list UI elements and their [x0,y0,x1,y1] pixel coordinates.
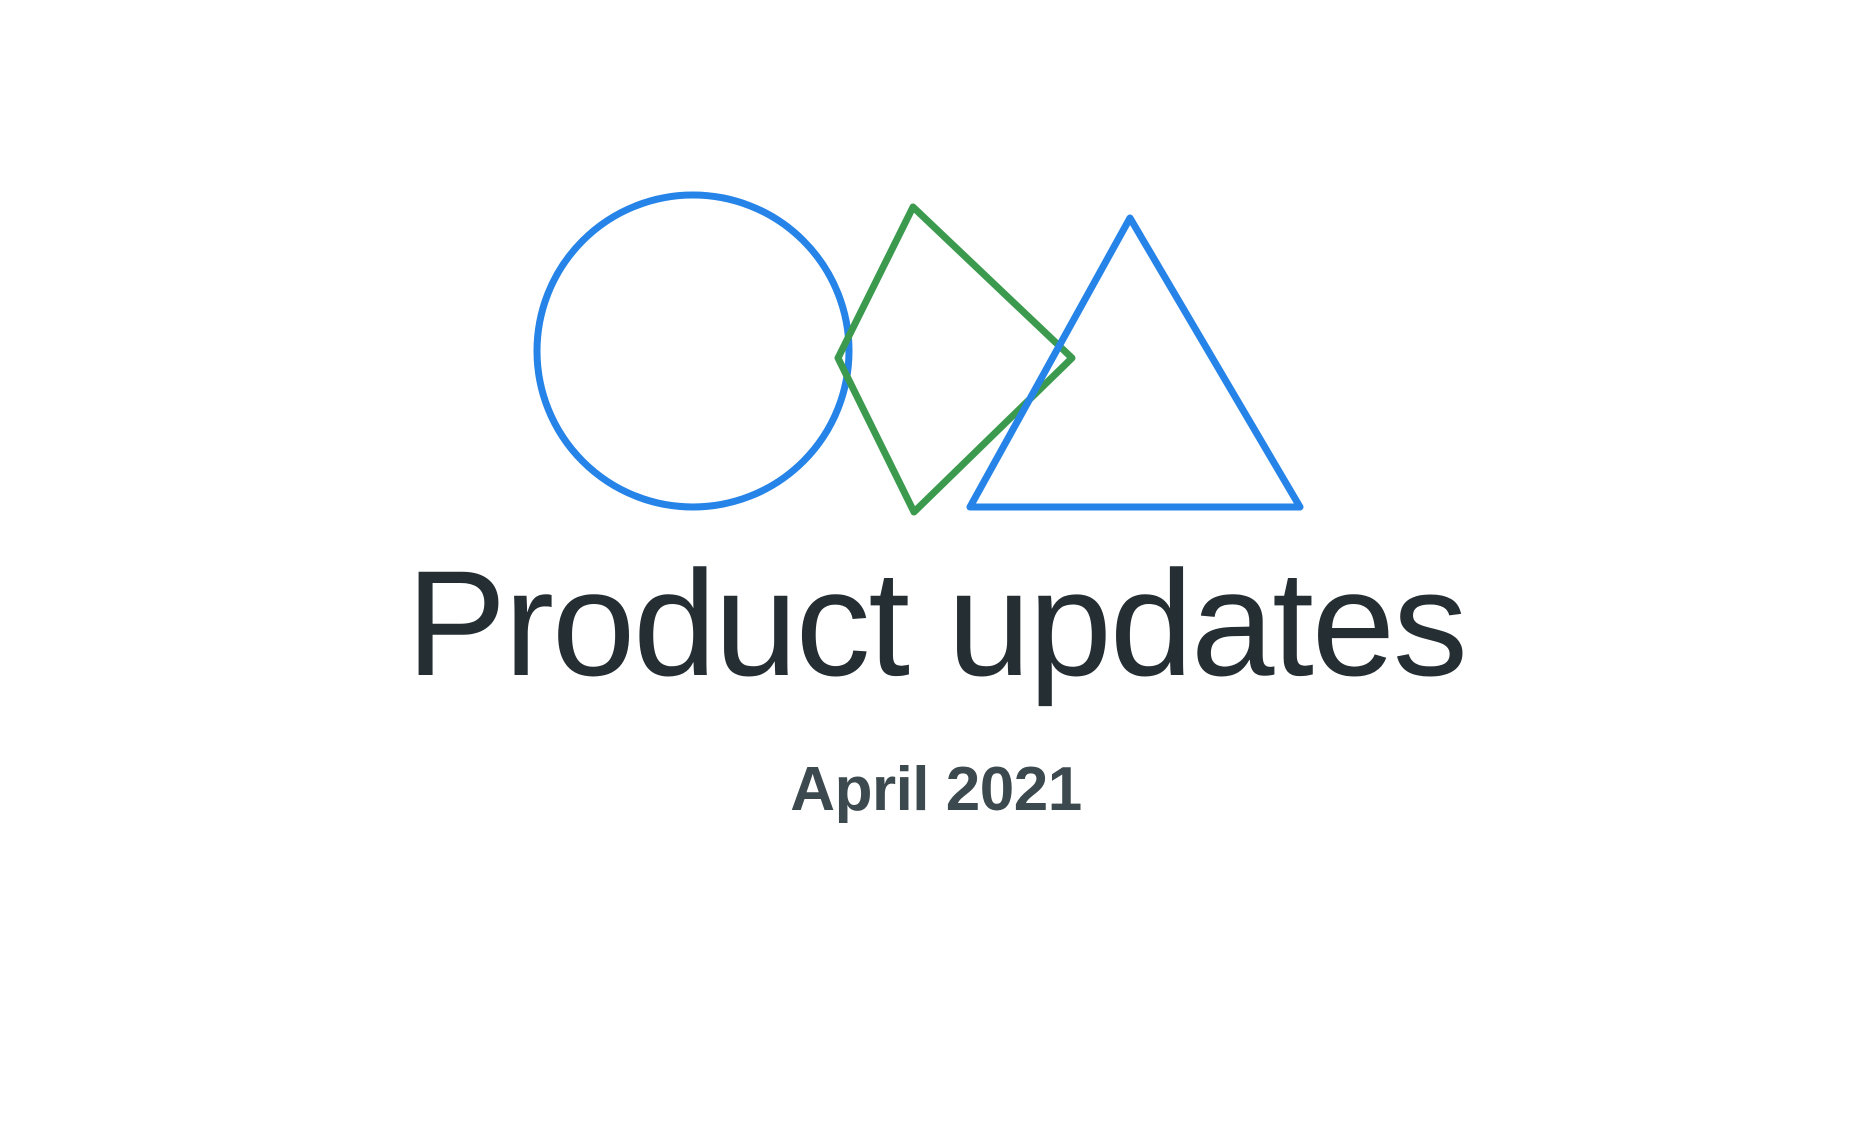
triangle-shape-icon [970,218,1300,507]
slide-content: Product updates April 2021 [0,0,1872,1142]
circle-shape-icon [537,195,849,507]
diamond-shape-icon [838,207,1072,512]
three-shapes-logo [470,150,1370,550]
title-block: Product updates April 2021 [0,545,1872,821]
page-subtitle-date: April 2021 [0,701,1872,821]
product-updates-slide: Product updates April 2021 [0,0,1872,1142]
page-title: Product updates [0,545,1872,701]
